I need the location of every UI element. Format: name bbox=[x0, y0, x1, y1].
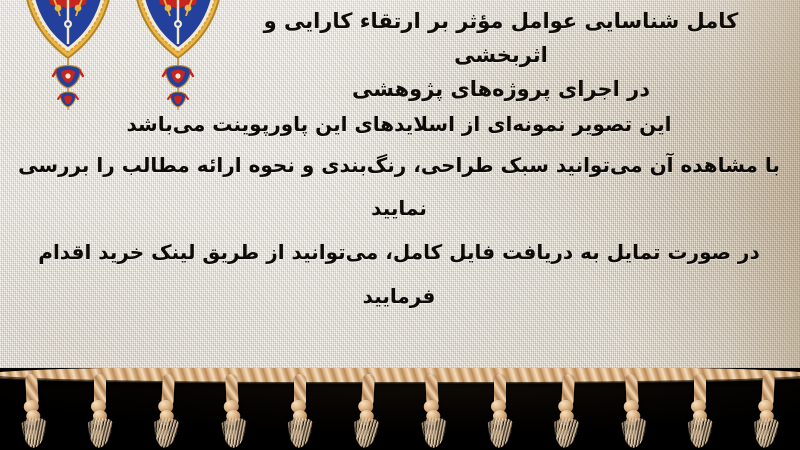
fringe-tassel bbox=[752, 373, 782, 448]
fringe-tassel bbox=[18, 373, 48, 448]
fringe-tassel bbox=[618, 373, 648, 448]
body-line-3: در صورت تمایل به دریافت فایل کامل، می‌تو… bbox=[8, 230, 790, 318]
fringe-tassel bbox=[487, 374, 513, 448]
slide-title: کامل شناسایی عوامل مؤثر بر ارتقاء کارایی… bbox=[220, 4, 782, 106]
slide-body: این تصویر نمونه‌ای از اسلایدهای این پاور… bbox=[8, 104, 790, 318]
fringe-tassel bbox=[687, 374, 713, 448]
fringe-tassel bbox=[418, 373, 448, 448]
slide-title-line-2: در اجرای پروژه‌های پژوهشی bbox=[220, 72, 782, 106]
fringe-tassel bbox=[218, 373, 248, 448]
body-line-2: با مشاهده آن می‌توانید سبک طراحی، رنگ‌بن… bbox=[8, 144, 790, 230]
carpet-fringe-band bbox=[0, 368, 800, 450]
tassel-brush bbox=[224, 417, 247, 449]
tassel-brush bbox=[489, 417, 513, 449]
tassel-brush bbox=[689, 417, 713, 449]
tassel-brush bbox=[289, 417, 313, 449]
tassel-brush bbox=[624, 417, 647, 449]
fringe-tassel bbox=[552, 373, 582, 448]
tassel-brush bbox=[89, 417, 113, 449]
fringe-tassel bbox=[87, 374, 113, 448]
fringe-tassel bbox=[287, 374, 313, 448]
fringe-tassel bbox=[152, 373, 182, 448]
slide-title-line-1: کامل شناسایی عوامل مؤثر بر ارتقاء کارایی… bbox=[220, 4, 782, 72]
body-line-1: این تصویر نمونه‌ای از اسلایدهای این پاور… bbox=[8, 104, 790, 144]
tassel-brush bbox=[24, 417, 47, 449]
presentation-slide: کامل شناسایی عوامل مؤثر بر ارتقاء کارایی… bbox=[0, 0, 800, 450]
rope-edge-front bbox=[0, 368, 800, 382]
fringe-tassel bbox=[352, 373, 382, 448]
tassel-brush bbox=[424, 417, 447, 449]
